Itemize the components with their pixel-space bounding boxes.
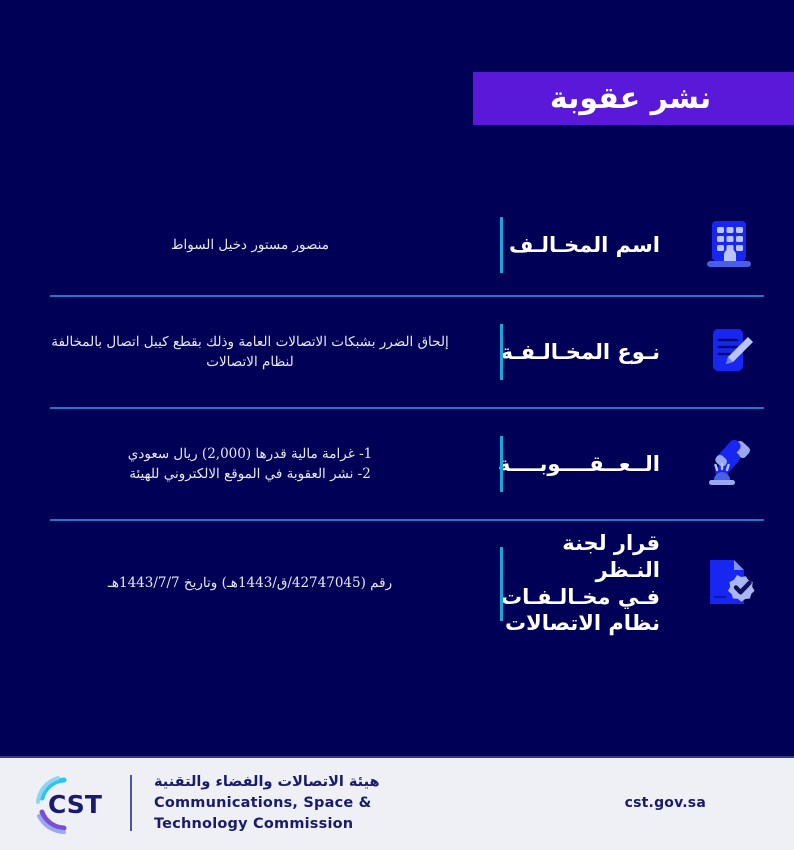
row-value-violation-type: إلحاق الضرر بشبكات الاتصالات العامة وذلك… <box>0 332 500 373</box>
footer-org-arabic: هيئة الاتصالات والفضاء والتقنية <box>154 772 380 793</box>
footer-top-border <box>0 756 794 758</box>
cst-logo: CST <box>34 772 112 834</box>
table-row: الــعــقــــوبــــة 1- غرامة مالية قدرها… <box>0 409 794 519</box>
footer: CST هيئة الاتصالات والفضاء والتقنية Comm… <box>0 756 794 850</box>
accent-bar <box>500 324 503 380</box>
details-list: اسم المخـالـف منصور مستور دخيل السواط <box>0 195 794 646</box>
page-title: نشر عقوبة <box>550 84 711 114</box>
row-value-text: منصور مستور دخيل السواط <box>171 235 329 255</box>
footer-org-names: هيئة الاتصالات والفضاء والتقنية Communic… <box>154 772 380 834</box>
row-label-text: نـوع المخـالـفـة <box>500 339 672 366</box>
footer-org-english-line2: Technology Commission <box>154 814 380 835</box>
document-check-gear-icon <box>680 544 780 624</box>
row-label-penalty: الــعــقــــوبــــة <box>500 451 680 478</box>
table-row: قرار لجنة النـظر فـي مخـالـفـات نظام الا… <box>0 521 794 646</box>
table-row: اسم المخـالـف منصور مستور دخيل السواط <box>0 195 794 295</box>
row-value-committee-decision: رقم (42747045/ق/1443هـ) وتاريخ 1443/7/7ه… <box>0 573 500 593</box>
footer-divider <box>130 775 132 831</box>
row-value-violator-name: منصور مستور دخيل السواط <box>0 235 500 255</box>
row-value-text: رقم (42747045/ق/1443هـ) وتاريخ 1443/7/7ه… <box>108 573 392 593</box>
footer-website-url[interactable]: cst.gov.sa <box>625 795 766 811</box>
cst-logo-text: CST <box>48 790 102 819</box>
penalty-publication-poster: نشر عقوبة <box>0 0 794 850</box>
building-icon <box>680 205 780 285</box>
row-label-text: اسم المخـالـف <box>500 232 672 259</box>
accent-bar <box>500 217 503 273</box>
row-label-violation-type: نـوع المخـالـفـة <box>500 339 680 366</box>
table-row: نـوع المخـالـفـة إلحاق الضرر بشبكات الات… <box>0 297 794 407</box>
document-pencil-icon <box>680 312 780 392</box>
row-value-penalty: 1- غرامة مالية قدرها (2,000) ريال سعودي … <box>0 444 500 485</box>
row-label-violator-name: اسم المخـالـف <box>500 232 680 259</box>
row-value-text: إلحاق الضرر بشبكات الاتصالات العامة وذلك… <box>51 332 448 373</box>
row-label-text: الــعــقــــوبــــة <box>500 451 672 478</box>
row-label-text: قرار لجنة النـظر فـي مخـالـفـات نظام الا… <box>500 530 672 638</box>
gavel-icon <box>680 424 780 504</box>
row-label-committee-decision: قرار لجنة النـظر فـي مخـالـفـات نظام الا… <box>500 530 680 638</box>
footer-org-english-line1: Communications, Space & <box>154 793 380 814</box>
accent-bar <box>500 547 503 621</box>
row-value-text: 1- غرامة مالية قدرها (2,000) ريال سعودي … <box>128 444 372 485</box>
accent-bar <box>500 436 503 492</box>
header-banner: نشر عقوبة <box>473 72 794 125</box>
